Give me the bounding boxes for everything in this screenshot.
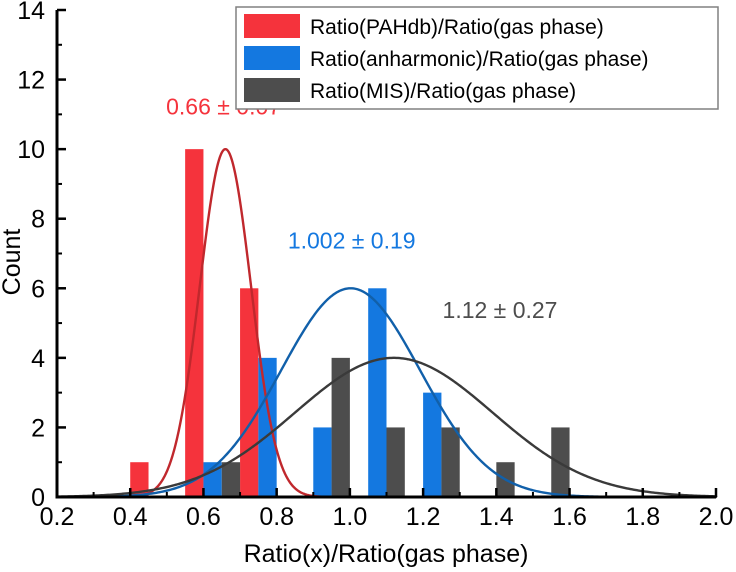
plot-canvas: 0.20.40.60.81.01.21.41.61.82.00246810121… (0, 0, 736, 572)
histogram-bar (313, 427, 331, 497)
y-tick-label: 2 (31, 414, 45, 442)
y-tick-label: 10 (17, 136, 45, 164)
y-tick-label: 4 (31, 345, 45, 373)
legend-swatch (244, 78, 300, 102)
legend-label: Ratio(PAHdb)/Ratio(gas phase) (310, 16, 604, 39)
annotations-layer: 0.66 ± 0.071.002 ± 0.191.12 ± 0.27 (166, 93, 557, 323)
y-tick-label: 8 (31, 206, 45, 234)
fit-annotation: 1.002 ± 0.19 (288, 227, 416, 253)
y-tick-label: 0 (31, 484, 45, 512)
x-tick-label: 0.6 (186, 503, 221, 531)
histogram-bar (423, 393, 441, 497)
histogram-bar (368, 288, 386, 497)
histogram-bar (387, 427, 405, 497)
histogram-figure: 0.20.40.60.81.01.21.41.61.82.00246810121… (0, 0, 736, 572)
legend-label: Ratio(anharmonic)/Ratio(gas phase) (310, 48, 649, 71)
y-tick-label: 14 (17, 0, 45, 25)
histogram-bar (441, 427, 459, 497)
y-tick-label: 12 (17, 67, 45, 95)
x-tick-label: 1.4 (479, 503, 514, 531)
legend-label: Ratio(MIS)/Ratio(gas phase) (310, 80, 576, 103)
x-tick-label: 0.4 (113, 503, 148, 531)
x-tick-label: 1.8 (625, 503, 660, 531)
x-axis-title: Ratio(x)/Ratio(gas phase) (244, 540, 529, 568)
x-tick-label: 1.6 (552, 503, 587, 531)
histogram-bar (222, 462, 240, 497)
y-tick-label: 6 (31, 275, 45, 303)
histogram-bar (258, 358, 276, 497)
histogram-bar (332, 358, 350, 497)
y-axis-title: Count (0, 229, 26, 296)
legend: Ratio(PAHdb)/Ratio(gas phase)Ratio(anhar… (236, 7, 718, 109)
x-tick-label: 2.0 (699, 503, 734, 531)
legend-swatch (244, 14, 300, 38)
x-tick-label: 1.2 (406, 503, 441, 531)
fit-annotation: 1.12 ± 0.27 (443, 297, 558, 323)
legend-swatch (244, 46, 300, 70)
x-tick-label: 1.0 (333, 503, 368, 531)
x-tick-label: 0.8 (259, 503, 294, 531)
